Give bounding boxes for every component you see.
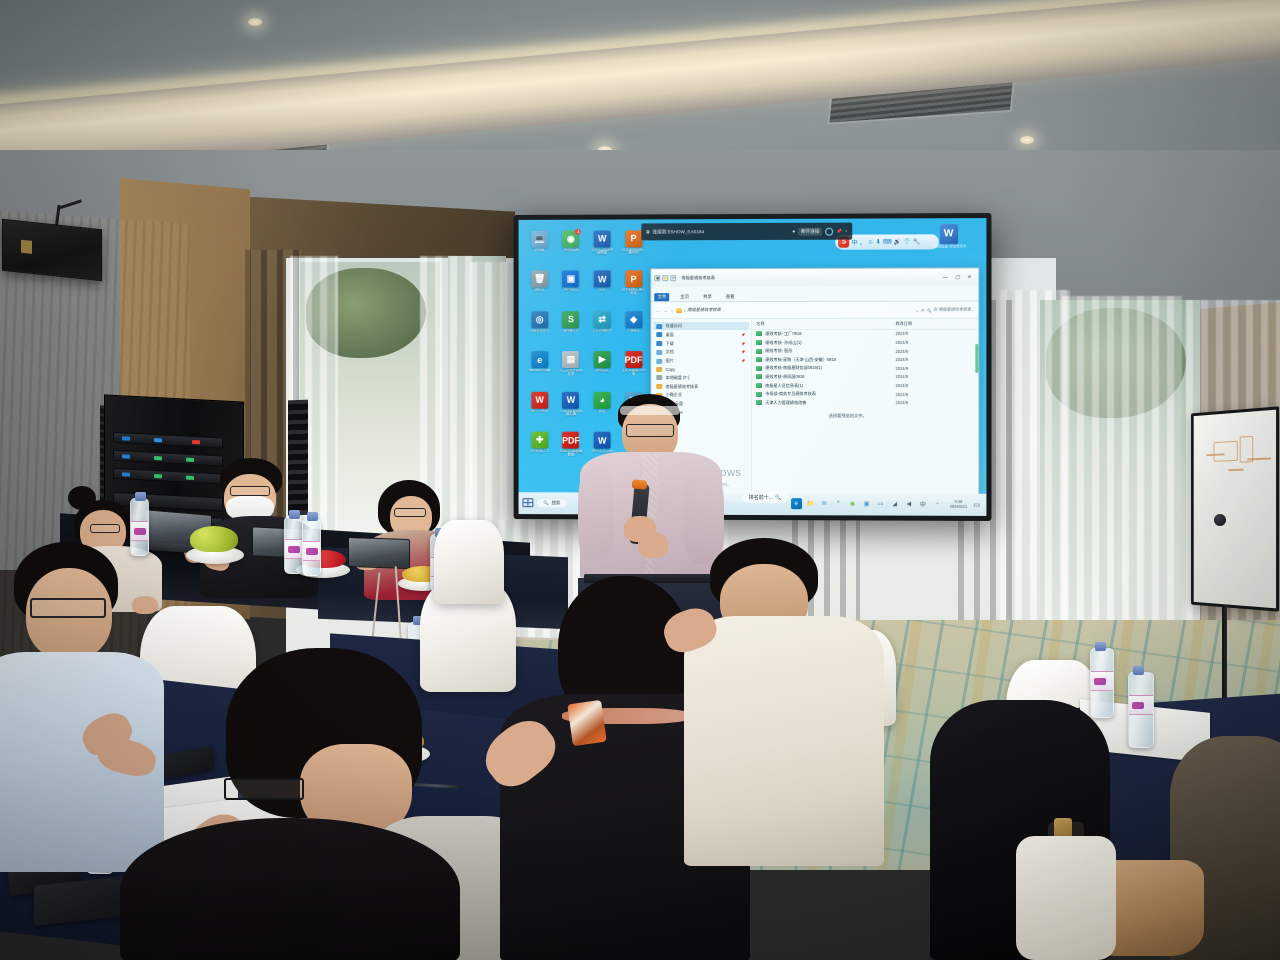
file-modified-date: 2024/9	[895, 357, 974, 362]
file-modified-date: 2024/9	[895, 340, 974, 345]
forward-arrow-icon[interactable]: →	[663, 308, 668, 313]
desktop-icon-label: 火绒安全软件	[530, 329, 550, 332]
ceiling-speaker-icon	[2, 219, 102, 282]
desktop-icon-11[interactable]: ⇄文件传输助手	[587, 309, 618, 349]
excel-file-icon	[756, 374, 762, 379]
file-row[interactable]: 市场部-商务专员绩效考核表2024/9	[752, 390, 978, 399]
search-icon: 🔍	[543, 500, 548, 506]
explorer-search-box[interactable]: ⌄ ⟳ 🔍 在 南极星绩效考核表...	[915, 307, 974, 313]
nav-pane-item-label: 文档	[666, 349, 674, 355]
action-center-icon[interactable]: ▭	[971, 499, 982, 510]
window-control-buttons[interactable]: — ▢ ✕	[943, 274, 975, 280]
breadcrumb[interactable]: › 南极星绩效考核表	[676, 307, 912, 313]
file-row[interactable]: 绩效考核- 股形2024/9	[752, 347, 978, 356]
nav-pane-item-label: 南极星绩效考核表	[666, 383, 699, 389]
file-row[interactable]: 绩效考核- 孙成山(1)2024/9	[752, 338, 978, 347]
app-icon-glyph: ◎	[531, 311, 548, 328]
back-arrow-icon[interactable]: ←	[656, 308, 661, 313]
bottle-cap	[307, 512, 318, 521]
nav-pane-item-label: 快速访问	[666, 323, 682, 329]
folder-icon	[657, 367, 663, 372]
hair	[120, 818, 460, 960]
nav-pane-item-3[interactable]: 下载📌	[654, 339, 750, 348]
file-name: 绩效考核- 工厂0918	[765, 331, 895, 337]
word-doc-icon: W	[939, 224, 957, 244]
app-icon-glyph: PDF	[625, 351, 642, 368]
connection-status-text: 连接到 ESHOW_EAS184	[653, 229, 705, 235]
desktop-icon-14[interactable]: ▤员工绩效考核表汇总	[555, 349, 586, 389]
whiteboard-sketch-4	[1247, 457, 1271, 460]
star-icon	[657, 324, 663, 329]
ime-item-8[interactable]: 🔧	[913, 239, 921, 246]
windows-start-icon[interactable]	[522, 498, 533, 507]
person-attendee-front-bottom	[120, 818, 460, 960]
file-name: 绩效考核-南极星财务部0919(1)	[765, 365, 895, 371]
search-placeholder-text: 在 南极星绩效考核表...	[933, 307, 974, 313]
nav-pane-item-6[interactable]: Copy	[654, 366, 750, 374]
bottle-label	[131, 521, 148, 541]
desktop-icon-label: 360安全卫士	[530, 450, 548, 453]
pin-icon[interactable]: 📌	[741, 350, 745, 354]
bottle-label	[285, 539, 302, 559]
app-icon-glyph: P	[625, 230, 642, 247]
desktop-icon-label: 小蓝奏云	[627, 329, 640, 332]
drive-icon	[657, 375, 663, 380]
column-header-name[interactable]: 名称	[756, 320, 895, 326]
taskbar-news-pill[interactable]: 排名前十... 🔍	[742, 492, 788, 503]
file-name: 绩效考核- 孙成山(1)	[765, 339, 895, 345]
file-modified-date: 2024/9	[895, 366, 974, 371]
nav-pane-item-label: 下载	[666, 341, 674, 347]
file-modified-date: 2024/9	[895, 383, 974, 388]
desktop-icon-9[interactable]: ◎火绒安全软件	[524, 309, 555, 349]
app-icon-glyph: ✚	[531, 432, 548, 449]
desktop-icon-5[interactable]: 🗑回收站	[524, 269, 555, 309]
app-icon-glyph: ▤	[563, 351, 580, 368]
app-icon-glyph: ⇄	[594, 311, 611, 328]
chair-cover-back-right	[434, 520, 504, 604]
rack-led-blue-4	[122, 472, 130, 476]
notification-badge: 1	[575, 229, 581, 235]
rack-led-green-2	[186, 458, 194, 462]
glasses	[30, 598, 106, 618]
file-row[interactable]: 绩效考核-胡凤丽09182024/9	[752, 373, 978, 382]
desktop-icon-3[interactable]: W工作人员绩效考核制度	[587, 228, 618, 268]
search-icon: 🔍	[775, 495, 781, 501]
nav-pane-item-label: 图片	[666, 358, 674, 364]
ribbon-tab-3[interactable]: 共享	[700, 293, 715, 301]
excel-file-icon	[756, 400, 762, 405]
desktop-icon-label: 公文	[599, 289, 606, 292]
app-icon-glyph: ◉1	[563, 231, 580, 248]
explorer-window-title: 南极星绩效考核表	[679, 274, 941, 281]
nav-pane-item-label: Copy	[666, 367, 676, 372]
desktop-icon-label: Microsoft Edge	[529, 369, 551, 372]
pin-icon[interactable]: 📌	[741, 359, 745, 363]
notification-icon[interactable]: ◔	[932, 499, 943, 510]
whiteboard-stand-pole	[1222, 605, 1227, 710]
excel-file-icon	[756, 383, 762, 388]
app-icon-glyph: W	[594, 271, 611, 288]
arm-left	[578, 464, 614, 560]
hand-left	[638, 532, 668, 558]
quick-access-toolbar-icon-2[interactable]: 📁	[663, 275, 669, 281]
app-icon-glyph: S	[563, 311, 580, 328]
taskbar-search-box[interactable]: 🔍 搜索	[537, 499, 566, 507]
explorer-column-headers[interactable]: 名称 修改日期	[752, 318, 978, 329]
person-attendee-white-shirt	[690, 538, 890, 878]
explorer-file-rows[interactable]: 绩效考核- 工厂09182024/9绩效考核- 孙成山(1)2024/9绩效考核…	[752, 329, 978, 407]
whiteboard-pivot-knob[interactable]	[1214, 514, 1226, 526]
nav-pane-item-5[interactable]: 图片📌	[654, 357, 750, 366]
speaker-badge	[21, 240, 32, 254]
file-name: 天津人力管理绩效改善	[765, 400, 895, 406]
download-icon	[657, 341, 663, 346]
chevron-up-icon[interactable]: ⌃	[833, 499, 844, 510]
nav-pane-item-2[interactable]: 桌面📌	[654, 330, 750, 339]
file-modified-date: 2024/9	[895, 400, 974, 405]
desktop-icon	[657, 332, 663, 337]
search-icon: 🔍	[926, 307, 931, 312]
column-header-date[interactable]: 修改日期	[895, 320, 974, 326]
desktop-icon-8[interactable]: P公司制度汇编文件夹	[618, 269, 649, 309]
desktop-icon-label: 日常管理制度汇编2022	[621, 248, 647, 255]
forehead-highlight	[620, 406, 680, 415]
desktop-icon-label: 此电脑	[535, 249, 545, 252]
refresh-icon[interactable]: ⟳	[921, 307, 924, 312]
taskbar-clock[interactable]: 9:38 2024/9/21	[950, 500, 968, 509]
desktop-icon-7[interactable]: W公文	[587, 269, 618, 309]
mail-icon[interactable]: ✉	[819, 498, 830, 509]
excel-file-icon	[756, 340, 762, 345]
stop-circle-icon[interactable]	[825, 227, 833, 235]
excel-file-icon	[756, 392, 762, 397]
file-explorer-icon[interactable]: 📁	[805, 498, 816, 509]
bottle-label	[303, 541, 320, 561]
file-name: 绩效考核-采购（天津-山西-安徽）0918	[765, 357, 895, 363]
preview-pane-hint: 选择要预览的文件。	[829, 413, 867, 419]
nav-pane-item-8[interactable]: 南极星绩效考核表	[654, 382, 750, 391]
banner-controls[interactable]: ⏺ 断开连接 📌 ›	[793, 227, 847, 235]
glasses	[230, 486, 270, 496]
desktop-icon-label: 回收站	[535, 289, 545, 292]
excel-file-icon	[756, 366, 762, 371]
excel-file-icon	[756, 331, 762, 336]
bottle-cap	[1095, 642, 1106, 651]
rack-led-blue-3	[122, 454, 130, 458]
app-icon-glyph: W	[594, 230, 611, 247]
downlight-4	[1020, 136, 1034, 144]
record-icon[interactable]: ⏺	[793, 229, 795, 234]
desktop-icon-16[interactable]: PDF工资条模板2024版	[618, 349, 649, 389]
glasses	[90, 524, 120, 533]
app-icon-glyph: ◆	[625, 311, 642, 328]
app-icon-glyph: W	[531, 392, 548, 409]
file-modified-date: 2024/9	[895, 349, 974, 354]
ime-item-3[interactable]: ☺	[868, 239, 874, 245]
desktop-icon-6[interactable]: ▣WPS办公	[555, 269, 586, 309]
desktop-icon-12[interactable]: ◆小蓝奏云	[618, 309, 649, 349]
water-bottle-back-3	[302, 518, 321, 576]
pin-icon[interactable]: 📌	[741, 342, 745, 346]
desktop-icon-label: WPS Office	[531, 410, 548, 413]
breadcrumb-current: 南极星绩效考核表	[687, 307, 720, 313]
file-row[interactable]: 天津人力管理绩效改善2024/9	[752, 398, 978, 407]
connection-status: ⧉ 连接到 ESHOW_EAS184	[646, 229, 788, 236]
navigation-arrows[interactable]: ← → ↑	[656, 308, 673, 313]
desktop-icon-label: 公司制度汇编文件夹	[621, 289, 647, 296]
taskbar-search-placeholder: 搜索	[552, 500, 561, 506]
glasses	[224, 778, 304, 800]
ime-item-6[interactable]: 🔊	[894, 239, 902, 246]
mobile-whiteboard[interactable]	[1173, 410, 1280, 710]
folder-icon	[676, 308, 682, 313]
quick-access-toolbar-icon-1[interactable]: ▣	[655, 275, 661, 281]
laptop-screen-back-3	[348, 537, 410, 569]
photo-icon[interactable]: ▣	[861, 499, 872, 510]
microphone-windscreen	[632, 479, 648, 489]
ime-item-7[interactable]: 👕	[903, 239, 911, 246]
desktop-icon-label: 员工绩效考核表汇总	[558, 369, 584, 376]
desktop-icon-15[interactable]: ▶腾讯会议	[587, 349, 618, 389]
hair-bun	[68, 486, 96, 510]
explorer-ribbon-tabs[interactable]: 文件主页共享查看	[652, 286, 979, 303]
desktop-icon-label: 工作人员绩效考核制度	[589, 248, 615, 255]
explorer-address-bar[interactable]: ← → ↑ › 南极星绩效考核表 ⌄ ⟳ 🔍 在 南极星绩效考核表...	[652, 302, 979, 319]
desktop-icon-21[interactable]: ✚360安全卫士	[524, 430, 555, 470]
ime-icon[interactable]: 中	[917, 499, 928, 510]
neck-scarf	[567, 700, 607, 746]
file-name: 南极星人员信息表(1)	[765, 383, 895, 389]
file-name: 市场部-商务专员绩效考核表	[765, 391, 895, 397]
desktop-icon-10[interactable]: S搜狗输入法	[555, 309, 586, 349]
cast-icon: ⧉	[646, 230, 649, 235]
nav-pane-item-4[interactable]: 文档📌	[654, 348, 750, 357]
chair-cover-right-fg	[1016, 836, 1116, 960]
explorer-title-bar[interactable]: ▣ 📁 ⟳ 南极星绩效考核表 — ▢ ✕	[652, 268, 979, 286]
edge-icon[interactable]: e	[791, 498, 802, 509]
battery-icon[interactable]: ▭	[875, 499, 886, 510]
taskbar-tray[interactable]: e📁✉⌃◉▣▭◢◀中◔	[791, 498, 943, 510]
nav-pane-item-label: 本地磁盘 (F:)	[666, 375, 690, 381]
ribbon-tab-4[interactable]: 查看	[723, 293, 738, 301]
ribbon-tab-1[interactable]: 文件	[655, 294, 670, 302]
picture-icon	[657, 359, 663, 364]
conference-room-scene: 💻此电脑◉1360浏览器W工作人员绩效考核制度P日常管理制度汇编2022🗑回收站…	[0, 0, 1280, 960]
rack-led-green-4	[186, 476, 194, 480]
news-pill-text: 排名前十...	[749, 494, 773, 501]
minimize-icon[interactable]: —	[943, 274, 948, 280]
desktop-icon-17[interactable]: WWPS Office	[524, 390, 555, 430]
desktop-icon-label: WPS办公	[564, 289, 578, 292]
green-grapes	[190, 526, 238, 552]
ime-item-4[interactable]: ⬇	[876, 239, 881, 246]
desktop-icon-label: 文件传输助手	[592, 329, 612, 332]
file-name: 绩效考核- 股形	[765, 348, 895, 354]
ime-item-1[interactable]: 中	[851, 238, 857, 247]
volume-icon[interactable]: ◀	[903, 499, 914, 510]
file-row[interactable]: 南极星人员信息表(1)2024/9	[752, 381, 978, 390]
more-chevron-icon[interactable]: ›	[845, 229, 847, 234]
document-icon	[657, 350, 663, 355]
rack-led-green-1	[154, 456, 162, 460]
app-icon-glyph: ▶	[594, 351, 611, 368]
file-row[interactable]: 绩效考核-南极星财务部0919(1)2024/9	[752, 364, 978, 373]
whiteboard-sketch-5	[1228, 469, 1243, 471]
desktop-icon-label: 腾讯会议	[596, 369, 609, 372]
torso-white-shirt	[684, 616, 884, 866]
file-row[interactable]: 绩效考核-采购（天津-山西-安徽）09182024/9	[752, 355, 978, 364]
desktop-icon-13[interactable]: eMicrosoft Edge	[524, 349, 555, 389]
file-name: 绩效考核-胡凤丽0918	[765, 374, 895, 380]
nav-pane-item-7[interactable]: 本地磁盘 (F:)	[654, 373, 750, 382]
clock-date: 2024/9/21	[950, 504, 968, 509]
ime-item-5[interactable]: ⌨	[883, 239, 892, 246]
ribbon-tab-2[interactable]: 主页	[677, 294, 692, 302]
nav-pane-item-1[interactable]: 快速访问	[654, 322, 750, 331]
whiteboard-surface[interactable]	[1191, 406, 1279, 611]
app-icon-glyph: P	[625, 271, 642, 288]
breadcrumb-separator: ›	[684, 308, 685, 313]
whiteboard-sketch-1	[1214, 441, 1238, 462]
pin-icon[interactable]: 📌	[837, 228, 843, 234]
bottle-cap	[135, 492, 146, 501]
rack-led-red	[192, 440, 200, 444]
desktop-icon-label: 工资条模板2024版	[621, 369, 647, 376]
excel-file-icon	[756, 349, 762, 354]
shield-icon[interactable]: ◉	[847, 499, 858, 510]
folder-icon	[657, 384, 663, 389]
file-modified-date: 2024/9	[895, 331, 974, 336]
nav-pane-item-label: 桌面	[666, 332, 674, 338]
app-icon-glyph: e	[531, 351, 548, 368]
explorer-file-list-pane[interactable]: 名称 修改日期 绩效考核- 工厂09182024/9绩效考核- 孙成山(1)20…	[752, 318, 978, 501]
cast-connection-banner[interactable]: ⧉ 连接到 ESHOW_EAS184 ⏺ 断开连接 📌 ›	[641, 223, 851, 240]
downlight-5	[248, 18, 262, 26]
vertical-scrollbar[interactable]	[975, 344, 978, 373]
rack-led-blue-2	[154, 438, 162, 442]
desktop-icon-2[interactable]: ◉1360浏览器	[555, 228, 586, 268]
rack-unit-1	[113, 432, 223, 449]
disconnect-button[interactable]: 断开连接	[798, 227, 822, 235]
close-icon[interactable]: ✕	[967, 274, 971, 280]
glasses	[626, 424, 674, 437]
rack-led-blue-1	[122, 436, 130, 440]
ime-item-2[interactable]: ，	[860, 238, 866, 247]
app-icon-glyph: 💻	[531, 231, 548, 248]
chevron-down-icon[interactable]: ⌄	[915, 307, 918, 312]
maximize-icon[interactable]: ▢	[955, 274, 960, 280]
file-modified-date: 2024/9	[895, 374, 974, 379]
up-arrow-icon[interactable]: ↑	[671, 308, 673, 313]
file-modified-date: 2024/9	[895, 392, 974, 397]
desktop-icon-label: 搜狗输入法	[563, 329, 579, 332]
desktop-icon-1[interactable]: 💻此电脑	[524, 229, 555, 269]
app-icon-glyph: 🗑	[531, 271, 548, 288]
network-icon[interactable]: ◢	[889, 499, 900, 510]
app-icon-glyph: ▣	[563, 271, 580, 288]
excel-file-icon	[756, 357, 762, 362]
bottle-cap	[1133, 666, 1144, 675]
pin-icon[interactable]: 📌	[741, 333, 745, 337]
file-row[interactable]: 绩效考核- 工厂09182024/9	[752, 329, 978, 338]
desktop-icon-label: 360浏览器	[563, 248, 578, 251]
water-bottle-back-2	[284, 516, 303, 574]
glasses	[394, 508, 426, 517]
bottle-label	[1091, 671, 1113, 691]
quick-access-toolbar-icon-3[interactable]: ⟳	[671, 275, 677, 281]
bottle-cap	[289, 510, 300, 519]
